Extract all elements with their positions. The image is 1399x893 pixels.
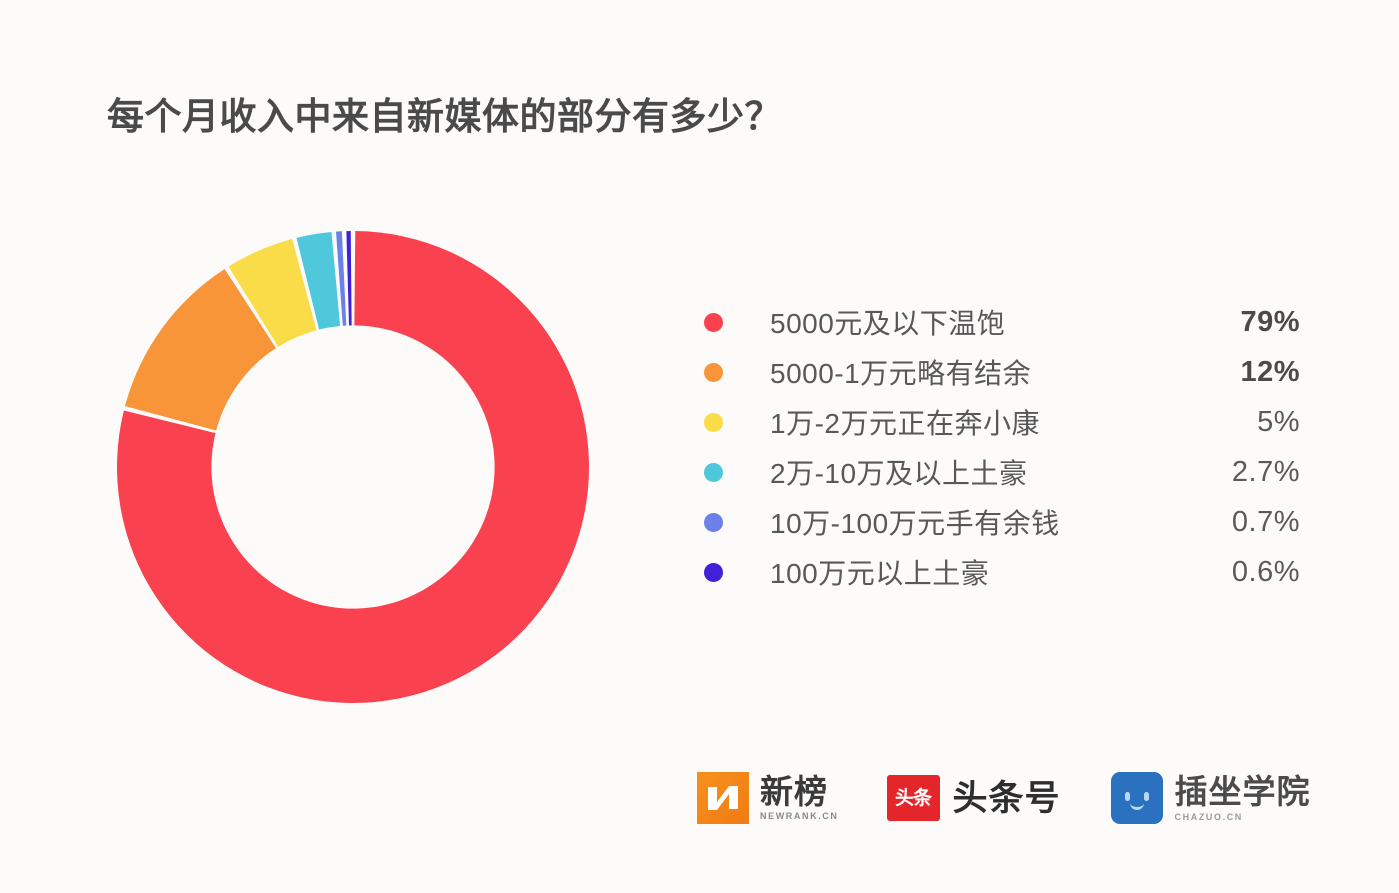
legend-color-swatch-icon (704, 513, 723, 532)
legend-color-swatch-icon (704, 463, 723, 482)
newrank-name-en: NEWRANK.CN (760, 812, 839, 821)
legend-item-value: 79% (1170, 306, 1300, 339)
newrank-mark-icon (697, 772, 749, 824)
toutiao-mark-icon: 头条 (887, 775, 940, 821)
logo-toutiaohao: 头条 头条号 (887, 775, 1061, 821)
logo-newrank: 新榜 NEWRANK.CN (697, 772, 839, 824)
legend-item[interactable]: 5000元及以下温饱79% (704, 297, 1300, 347)
legend-item-label: 100万元以上土豪 (770, 552, 989, 592)
legend-item-value: 0.6% (1170, 556, 1300, 589)
legend-color-swatch-icon (704, 413, 723, 432)
legend-item-value: 0.7% (1170, 506, 1300, 539)
chazuo-name-cn: 插坐学院 (1175, 775, 1311, 808)
chart-legend: 5000元及以下温饱79%5000-1万元略有结余12%1万-2万元正在奔小康5… (704, 297, 1304, 597)
donut-slices (117, 231, 589, 703)
legend-item[interactable]: 100万元以上土豪0.6% (704, 547, 1300, 597)
newrank-name-cn: 新榜 (760, 775, 839, 808)
page-title: 每个月收入中来自新媒体的部分有多少？ (107, 86, 782, 140)
legend-item-value: 2.7% (1170, 456, 1300, 489)
legend-item-label: 5000-1万元略有结余 (770, 352, 1031, 392)
logo-chazuo: 插坐学院 CHAZUO.CN (1111, 772, 1311, 824)
chazuo-eye-left-icon (1125, 792, 1130, 801)
legend-item-label: 10万-100万元手有余钱 (770, 502, 1060, 542)
legend-item-label: 5000元及以下温饱 (770, 302, 1005, 342)
toutiao-mark-text: 头条 (895, 789, 931, 808)
legend-item-value: 5% (1170, 406, 1300, 439)
legend-color-swatch-icon (704, 363, 723, 382)
legend-item[interactable]: 1万-2万元正在奔小康5% (704, 397, 1300, 447)
legend-item[interactable]: 10万-100万元手有余钱0.7% (704, 497, 1300, 547)
donut-chart-svg (113, 227, 593, 707)
legend-color-swatch-icon (704, 563, 723, 582)
chazuo-eye-right-icon (1144, 792, 1149, 801)
legend-item-label: 2万-10万及以上土豪 (770, 452, 1028, 492)
footer-logos: 新榜 NEWRANK.CN 头条 头条号 插坐学院 CHAZUO.CN (697, 772, 1311, 824)
legend-item-value: 12% (1170, 356, 1300, 389)
donut-chart (113, 227, 593, 707)
legend-item[interactable]: 2万-10万及以上土豪2.7% (704, 447, 1300, 497)
legend-color-swatch-icon (704, 313, 723, 332)
chart-page: 每个月收入中来自新媒体的部分有多少？ 5000元及以下温饱79%5000-1万元… (0, 0, 1399, 893)
chazuo-name-en: CHAZUO.CN (1175, 813, 1311, 822)
legend-item[interactable]: 5000-1万元略有结余12% (704, 347, 1300, 397)
legend-item-label: 1万-2万元正在奔小康 (770, 402, 1040, 442)
chazuo-smile-icon (1130, 803, 1144, 810)
toutiao-name-cn: 头条号 (953, 781, 1061, 816)
donut-slice[interactable] (346, 231, 351, 325)
chazuo-face-icon (1111, 772, 1163, 824)
